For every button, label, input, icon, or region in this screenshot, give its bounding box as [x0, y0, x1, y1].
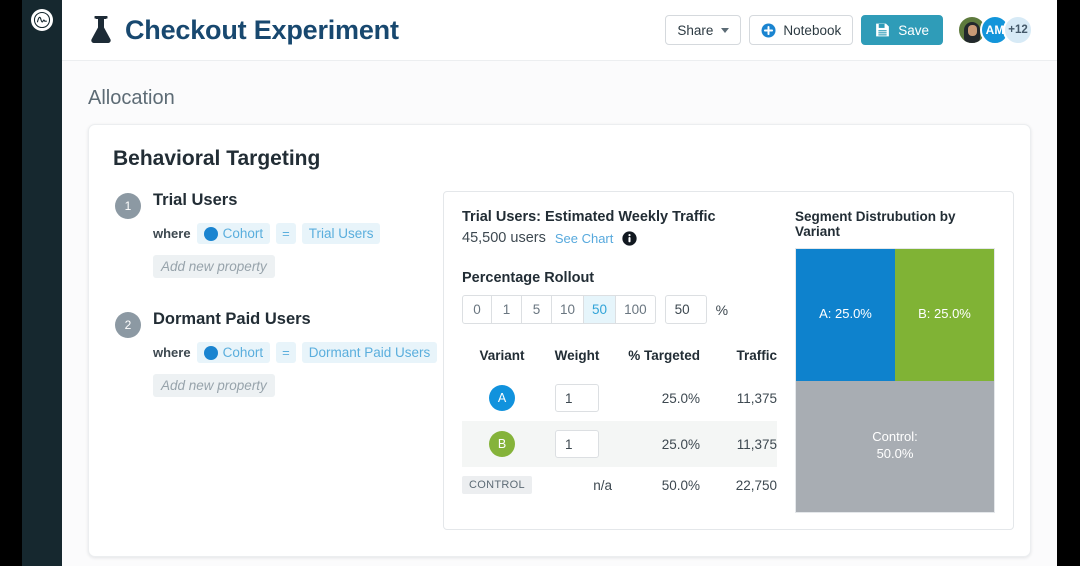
content-area: Allocation Behavioral Targeting 1 Trial … [62, 61, 1057, 566]
treemap-control-label-line2: 50.0% [872, 446, 918, 463]
weight-cell [542, 421, 612, 467]
traffic-panel-left: Trial Users: Estimated Weekly Traffic 45… [462, 209, 777, 513]
rollout-option-10[interactable]: 10 [552, 295, 584, 324]
rule-name: Trial Users [153, 191, 443, 210]
segment-distribution-chart: Segment Distrubution by Variant A: 25.0%… [787, 209, 995, 513]
add-new-property-button[interactable]: Add new property [153, 374, 275, 397]
rule-content: Dormant Paid Users where Cohort = Dorman… [153, 310, 443, 397]
percentage-rollout-label: Percentage Rollout [462, 270, 777, 286]
control-badge: CONTROL [462, 476, 532, 494]
th-variant: Variant [462, 348, 542, 375]
chart-title: Segment Distrubution by Variant [795, 209, 995, 239]
rule-index-badge: 1 [115, 193, 141, 219]
estimated-traffic-row: 45,500 users See Chart [462, 230, 777, 246]
section-title: Allocation [88, 61, 1031, 124]
treemap-control-label-line1: Control: [872, 429, 918, 446]
targeting-rules-list: 1 Trial Users where Cohort = [113, 191, 443, 397]
add-new-property-button[interactable]: Add new property [153, 255, 275, 278]
rollout-option-50[interactable]: 50 [584, 295, 616, 324]
save-button-label: Save [898, 23, 929, 38]
app-header: Checkout Experiment Share Notebook [62, 0, 1057, 61]
rule-condition: where Cohort = Dormant Paid Users [153, 342, 443, 363]
rule-property-label: Cohort [223, 226, 264, 241]
info-icon[interactable] [622, 231, 637, 246]
traffic-cell: 11,375 [700, 421, 777, 467]
traffic-cell: 11,375 [700, 375, 777, 421]
th-targeted: % Targeted [612, 348, 700, 375]
notebook-button[interactable]: Notebook [749, 15, 853, 45]
treemap-top-row: A: 25.0% B: 25.0% [796, 249, 994, 381]
rule-property-chip[interactable]: Cohort [197, 342, 271, 363]
variant-a-badge: A [489, 385, 515, 411]
behavioral-targeting-card: Behavioral Targeting 1 Trial Users where [88, 124, 1031, 557]
treemap-cell-b: B: 25.0% [895, 249, 994, 381]
notebook-button-label: Notebook [783, 23, 841, 38]
cohort-icon [204, 346, 218, 360]
rule-property-label: Cohort [223, 345, 264, 360]
rollout-option-5[interactable]: 5 [522, 295, 552, 324]
targeted-cell: 25.0% [612, 421, 700, 467]
weight-input-b[interactable] [555, 430, 599, 458]
left-nav-rail [22, 0, 62, 566]
card-title: Behavioral Targeting [113, 147, 1006, 171]
plus-circle-icon [761, 23, 776, 38]
rule-operator[interactable]: = [276, 223, 296, 244]
app-window: Checkout Experiment Share Notebook [62, 0, 1057, 566]
targeting-rule: 2 Dormant Paid Users where Cohort = [115, 310, 443, 397]
page-title: Checkout Experiment [125, 15, 399, 46]
variant-cell: A [462, 375, 542, 421]
targeted-cell: 25.0% [612, 375, 700, 421]
avatar-photo-face [968, 25, 977, 36]
percent-sign: % [716, 302, 728, 318]
rollout-segmented-control[interactable]: 0 1 5 10 50 100 [462, 295, 656, 324]
traffic-allocation-panel: Trial Users: Estimated Weekly Traffic 45… [443, 191, 1014, 530]
screen: Checkout Experiment Share Notebook [0, 0, 1080, 566]
rollout-option-0[interactable]: 0 [462, 295, 492, 324]
rule-value-chip[interactable]: Trial Users [302, 223, 381, 244]
cohort-icon [204, 227, 218, 241]
rollout-option-1[interactable]: 1 [492, 295, 522, 324]
targeting-rule: 1 Trial Users where Cohort = [115, 191, 443, 278]
rule-condition: where Cohort = Trial Users [153, 223, 443, 244]
rule-operator[interactable]: = [276, 342, 296, 363]
table-row: A 25.0% 11,375 [462, 375, 777, 421]
rule-value-chip[interactable]: Dormant Paid Users [302, 342, 438, 363]
variant-b-badge: B [489, 431, 515, 457]
rollout-percent-input[interactable] [665, 295, 707, 324]
estimated-traffic-users: 45,500 users [462, 230, 546, 246]
card-body: 1 Trial Users where Cohort = [113, 191, 1006, 530]
where-keyword: where [153, 226, 191, 241]
table-row: B 25.0% 11,375 [462, 421, 777, 467]
rule-property-chip[interactable]: Cohort [197, 223, 271, 244]
weight-cell: n/a [542, 467, 612, 503]
table-row: CONTROL n/a 50.0% 22,750 [462, 467, 777, 503]
th-traffic: Traffic [700, 348, 777, 375]
estimated-traffic-heading: Trial Users: Estimated Weekly Traffic [462, 209, 777, 225]
traffic-cell: 22,750 [700, 467, 777, 503]
chevron-down-icon [721, 28, 729, 33]
header-actions: Share Notebook [665, 15, 1033, 45]
variant-allocation-table: Variant Weight % Targeted Traffic [462, 348, 777, 503]
weight-cell [542, 375, 612, 421]
table-header-row: Variant Weight % Targeted Traffic [462, 348, 777, 375]
page-title-group: Checkout Experiment [88, 15, 399, 46]
avatar-group[interactable]: AM +12 [957, 15, 1033, 45]
variant-cell: B [462, 421, 542, 467]
percentage-rollout-row: 0 1 5 10 50 100 % [462, 295, 777, 324]
see-chart-link[interactable]: See Chart [555, 231, 614, 246]
flask-icon [88, 15, 114, 45]
rule-name: Dormant Paid Users [153, 310, 443, 329]
avatar-overflow-count[interactable]: +12 [1003, 15, 1033, 45]
save-disk-icon [875, 22, 890, 38]
weight-input-a[interactable] [555, 384, 599, 412]
amplitude-logo-icon[interactable] [31, 9, 53, 31]
treemap-cell-control: Control: 50.0% [796, 381, 994, 513]
th-weight: Weight [542, 348, 612, 375]
treemap: A: 25.0% B: 25.0% Control: 50.0% [795, 248, 995, 513]
share-button-label: Share [677, 23, 713, 38]
where-keyword: where [153, 345, 191, 360]
rule-index-badge: 2 [115, 312, 141, 338]
rollout-option-100[interactable]: 100 [616, 295, 656, 324]
save-button[interactable]: Save [861, 15, 943, 45]
share-button[interactable]: Share [665, 15, 741, 45]
rule-content: Trial Users where Cohort = Trial Users [153, 191, 443, 278]
treemap-cell-a: A: 25.0% [796, 249, 895, 381]
targeted-cell: 50.0% [612, 467, 700, 503]
variant-cell: CONTROL [462, 467, 542, 503]
